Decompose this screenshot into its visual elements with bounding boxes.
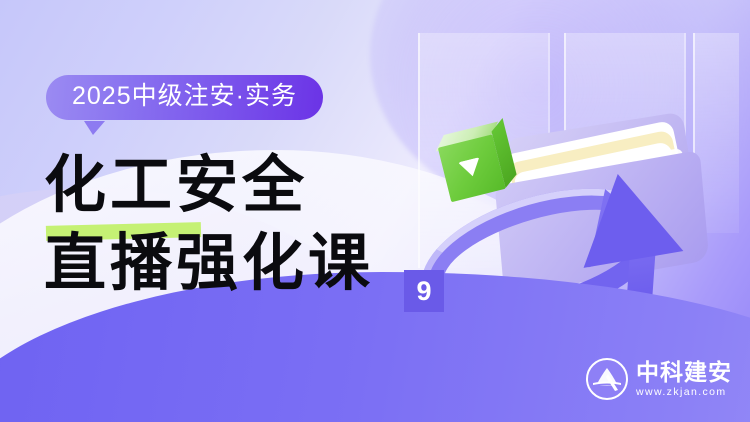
headline-block: 化工安全 直播强化课 9 [44,150,464,300]
course-badge-pill: 2025中级注安·实务 [46,75,323,120]
headline-line-1-text: 化工安全 [44,152,308,220]
headline-line-2-text: 直播强化课 [44,230,374,298]
course-promo-banner: 2025中级注安·实务 化工安全 直播强化课 9 中科建安 www.zkjan.… [0,0,750,422]
headline-line-2: 直播强化课 [44,228,464,300]
headline-line-1: 化工安全 [44,150,464,222]
episode-number-text: 9 [416,276,431,307]
brand-logo-text: 中科建安 www.zkjan.com [636,361,732,398]
badge-pill-tail [84,121,105,135]
course-badge-label: 2025中级注安·实务 [72,82,297,110]
brand-name: 中科建安 [636,361,732,384]
brand-logo: 中科建安 www.zkjan.com [586,358,732,400]
episode-number-badge: 9 [404,270,444,312]
zkjan-circle-logo-icon [586,358,628,400]
brand-url: www.zkjan.com [636,387,732,398]
